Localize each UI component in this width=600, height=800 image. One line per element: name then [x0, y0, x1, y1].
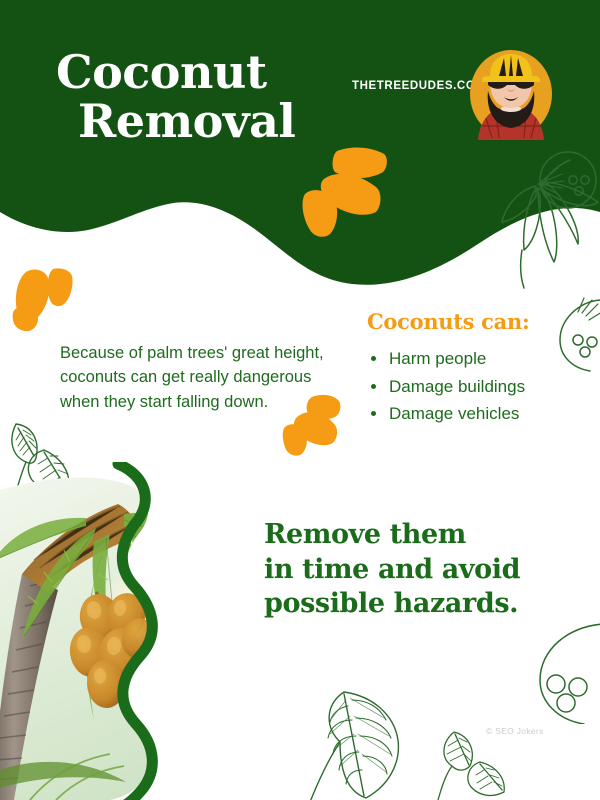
cta-headline: Remove them in time and avoid possible h…	[264, 518, 520, 622]
tree-dudes-lumberjack-logo	[466, 48, 556, 140]
hazards-heading: Coconuts can:	[367, 309, 529, 334]
intro-paragraph: Because of palm trees' great height, coc…	[60, 341, 330, 415]
bullet-dot-icon	[371, 356, 376, 361]
monstera-leaf-line-icon	[302, 688, 452, 800]
list-item-label: Harm people	[389, 349, 486, 368]
list-item: Damage buildings	[389, 373, 525, 401]
list-item-label: Damage vehicles	[389, 404, 519, 423]
hazards-list: Harm people Damage buildings Damage vehi…	[367, 345, 525, 428]
orange-petal-burst-icon	[300, 142, 396, 242]
bullet-dot-icon	[371, 411, 376, 416]
list-item: Damage vehicles	[389, 400, 525, 428]
palm-tree-with-coconuts-photo	[0, 470, 300, 800]
palm-frond-coconut-line-icon	[484, 150, 600, 290]
page-title: Coconut Removal	[56, 48, 295, 146]
orange-petal-burst-icon	[12, 266, 76, 332]
cta-line-2: in time and avoid	[264, 553, 520, 588]
coconut-line-icon	[520, 608, 600, 724]
bullet-dot-icon	[371, 384, 376, 389]
list-item-label: Damage buildings	[389, 377, 525, 396]
credit-watermark: © SEO Jokers	[486, 726, 544, 736]
list-item: Harm people	[389, 345, 525, 373]
cta-line-1: Remove them	[264, 518, 520, 553]
title-line-1: Coconut	[56, 48, 295, 97]
coconut-line-icon	[542, 292, 600, 374]
poster-canvas: Coconut Removal THETREEDUDES.COM	[0, 0, 600, 800]
cta-line-3: possible hazards.	[264, 587, 520, 622]
leaf-sprig-line-icon	[432, 726, 518, 800]
title-line-2: Removal	[78, 97, 295, 146]
